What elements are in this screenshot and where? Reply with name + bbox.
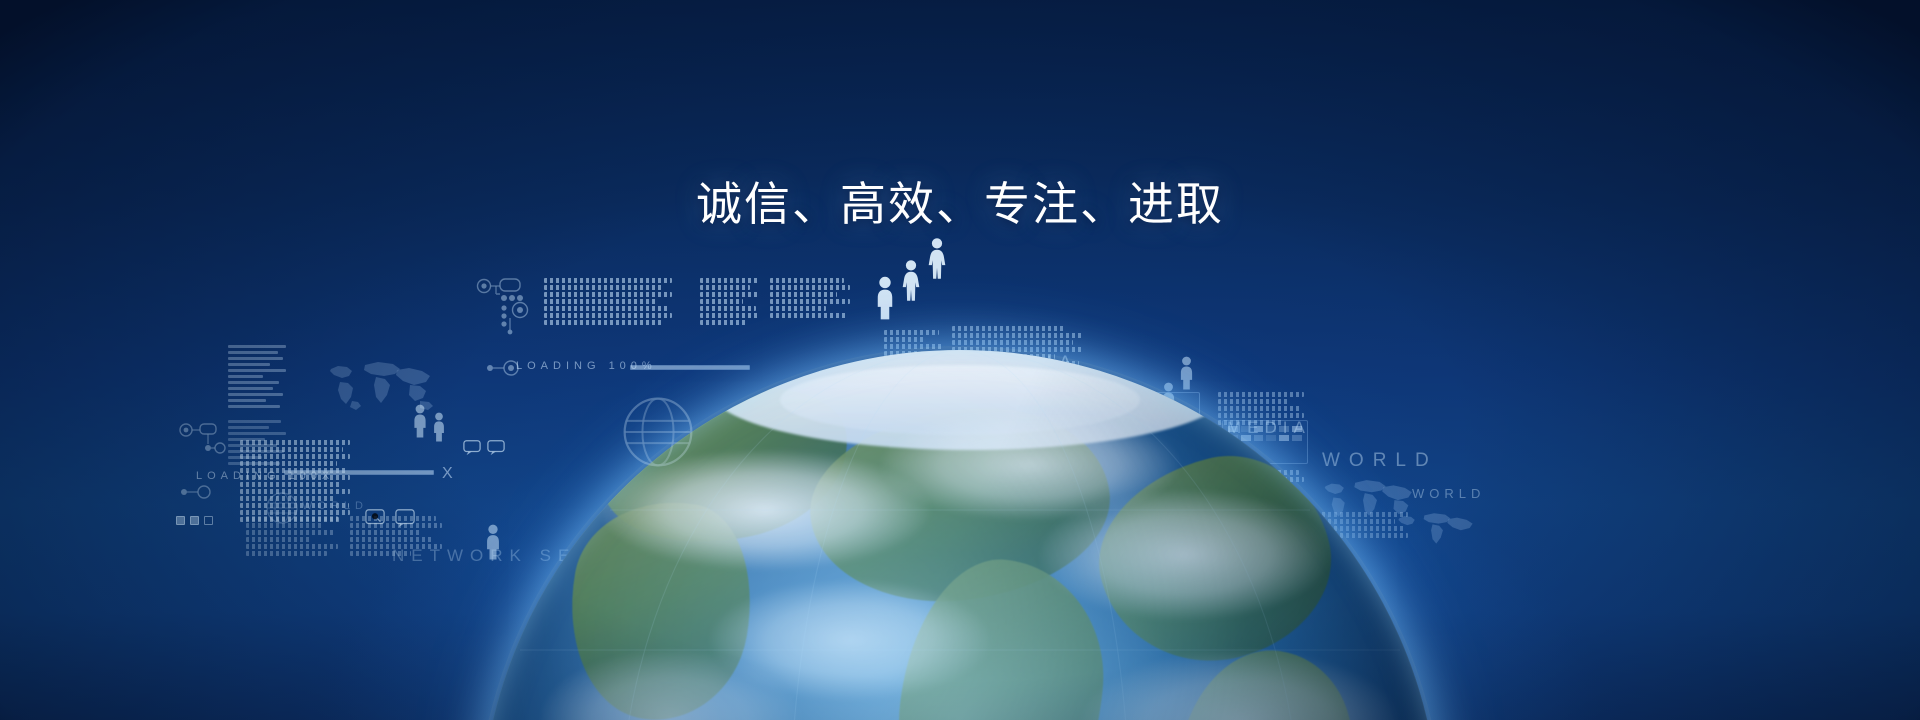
hud-codeblock-center-1 bbox=[544, 278, 672, 325]
hero-banner: LOADING 100X X WORLD bbox=[0, 0, 1920, 720]
globe-wire-icon bbox=[618, 392, 698, 472]
hud-codeblock-left bbox=[240, 440, 350, 522]
person-icon bbox=[926, 236, 948, 280]
network-diagram-icon bbox=[176, 418, 228, 462]
globe-container bbox=[480, 350, 1440, 720]
chat-bubble-icon bbox=[394, 508, 416, 528]
loading-label-lower: LOADING 100X bbox=[196, 470, 334, 482]
hud-codeblock-center-2 bbox=[700, 278, 758, 325]
globe-icon bbox=[264, 490, 300, 526]
progress-bar-lower bbox=[284, 470, 434, 475]
hud-chip-group-left bbox=[176, 516, 213, 525]
hud-codeblock-bottom-left bbox=[246, 516, 338, 556]
world-map-icon bbox=[322, 355, 442, 417]
page-title: 诚信、高效、专注、进取 bbox=[0, 168, 1920, 234]
hud-icon-row-bottom bbox=[364, 508, 416, 528]
network-diagram-icon bbox=[474, 274, 532, 336]
person-icon bbox=[412, 404, 428, 438]
network-diagram-icon bbox=[176, 478, 220, 506]
hud-codeblock-bottom-left-2 bbox=[350, 516, 442, 556]
hud-textblock-left-2 bbox=[228, 420, 286, 465]
hud-textblock-left-1 bbox=[228, 345, 286, 408]
search-icon bbox=[364, 508, 386, 528]
person-icon bbox=[432, 412, 446, 442]
chat-bubble-icon bbox=[462, 438, 482, 456]
x-mark-left: X bbox=[442, 465, 457, 483]
world-label-small-left: WORLD bbox=[302, 500, 368, 512]
